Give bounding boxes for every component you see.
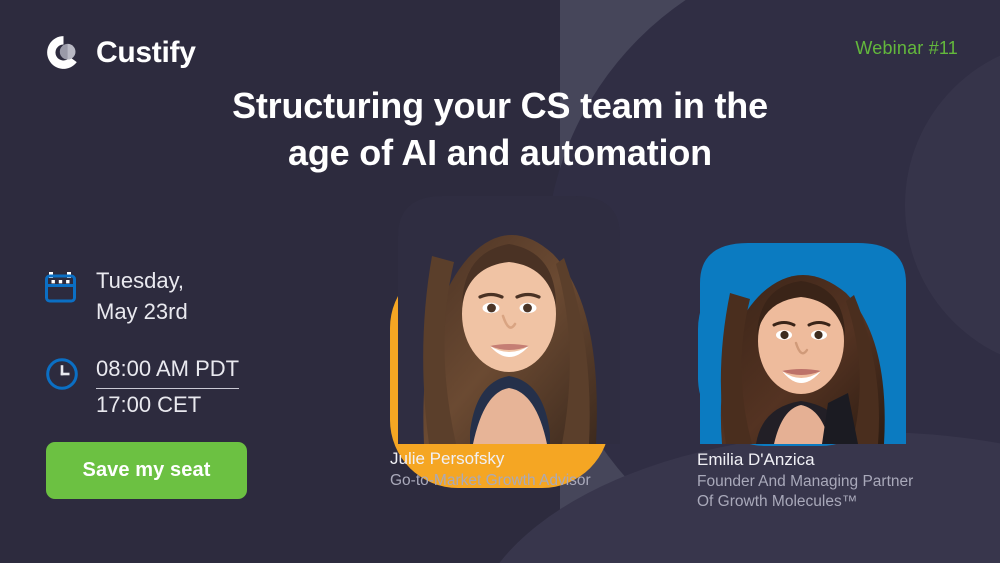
brand-name: Custify (96, 36, 196, 70)
save-my-seat-button[interactable]: Save my seat (46, 442, 247, 499)
title-line-2: age of AI and automation (288, 132, 712, 173)
time-secondary: 17:00 CET (96, 389, 201, 417)
schedule-block: Tuesday, May 23rd 08:00 AM PDT 17:00 CET (44, 265, 239, 420)
date-text: Tuesday, May 23rd (96, 265, 188, 327)
brand-logo[interactable]: Custify (44, 33, 196, 72)
speaker-1-photo (398, 196, 620, 444)
custify-logo-icon (44, 33, 83, 72)
time-text: 08:00 AM PDT 17:00 CET (96, 353, 239, 419)
speaker-2-caption: Emilia D'Anzica Founder And Managing Par… (697, 449, 913, 513)
date-line-1: Tuesday, (96, 268, 184, 293)
calendar-icon (44, 268, 80, 304)
date-line-2: May 23rd (96, 299, 188, 324)
speaker-2-name: Emilia D'Anzica (697, 449, 913, 472)
webinar-number-tag: Webinar #11 (855, 38, 958, 59)
speaker-1-caption: Julie Persofsky Go-to-Market Growth Advi… (390, 448, 591, 491)
webinar-promo-poster: Custify Webinar #11 Structuring your CS … (0, 0, 1000, 563)
speaker-2-role-line-2: Of Growth Molecules™ (697, 492, 913, 512)
page-title: Structuring your CS team in the age of A… (0, 83, 1000, 177)
speaker-1-name: Julie Persofsky (390, 448, 591, 471)
speaker-2-photo (700, 243, 906, 444)
time-primary: 08:00 AM PDT (96, 353, 239, 388)
speaker-1-role-line-1: Go-to-Market Growth Advisor (390, 471, 591, 491)
date-row: Tuesday, May 23rd (44, 265, 239, 327)
clock-icon (44, 356, 80, 392)
speaker-2-role-line-1: Founder And Managing Partner (697, 472, 913, 492)
title-line-1: Structuring your CS team in the (232, 85, 768, 126)
time-row: 08:00 AM PDT 17:00 CET (44, 353, 239, 419)
